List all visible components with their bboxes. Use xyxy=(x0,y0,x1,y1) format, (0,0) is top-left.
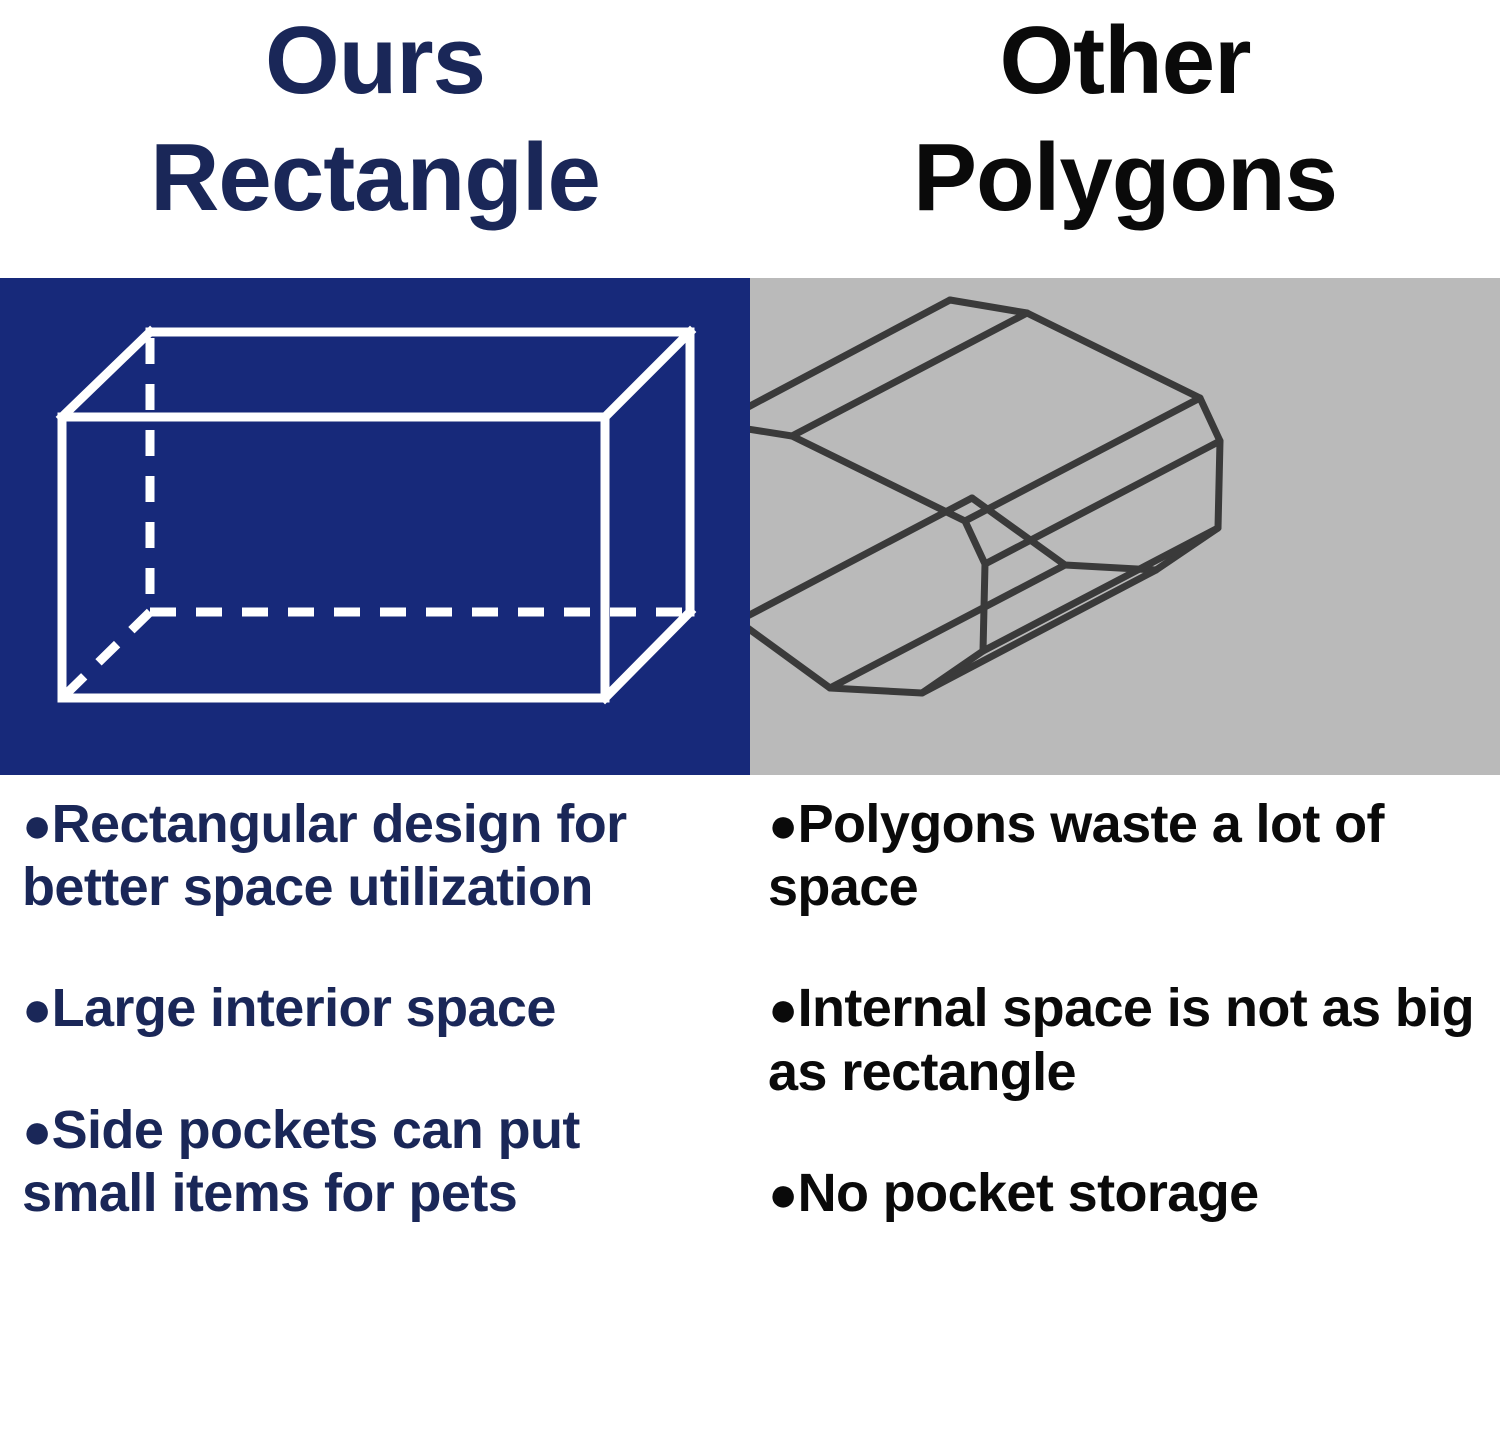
header-other-line2: Polygons xyxy=(913,119,1337,236)
bullet-dot-icon: ● xyxy=(22,981,52,1037)
bullet-dot-icon: ● xyxy=(22,797,52,853)
bullet-item-label: Large interior space xyxy=(52,978,556,1038)
bullet-dot-icon: ● xyxy=(768,797,798,853)
bullet-item-label: Rectangular design for better space util… xyxy=(22,794,627,917)
header-other: Other Polygons xyxy=(750,0,1500,278)
bullet-item: ●Internal space is not as big as rectang… xyxy=(768,977,1480,1103)
bullet-list-other: ●Polygons waste a lot of space ●Internal… xyxy=(750,775,1500,1430)
header-ours-line1: Ours xyxy=(265,2,485,119)
bullet-item-label: Internal space is not as big as rectangl… xyxy=(768,978,1474,1101)
bullet-dot-icon: ● xyxy=(768,981,798,1037)
bullets-row: ●Rectangular design for better space uti… xyxy=(0,775,1500,1430)
panel-other-polygon xyxy=(750,278,1500,775)
bullet-item: ●Large interior space xyxy=(22,977,710,1040)
bullet-item-label: No pocket storage xyxy=(798,1163,1259,1223)
bullet-dot-icon: ● xyxy=(22,1103,52,1159)
bullet-item: ●Polygons waste a lot of space xyxy=(768,793,1480,919)
bullet-item-label: Polygons waste a lot of space xyxy=(768,794,1384,917)
bullet-item: ●Side pockets can put small items for pe… xyxy=(22,1099,710,1225)
bullet-item: ●Rectangular design for better space uti… xyxy=(22,793,710,919)
illustration-row xyxy=(0,278,1500,775)
panel-ours-rectangle xyxy=(0,278,750,775)
bullet-item-label: Side pockets can put small items for pet… xyxy=(22,1100,580,1223)
bullet-item: ●No pocket storage xyxy=(768,1162,1480,1225)
header-row: Ours Rectangle Other Polygons xyxy=(0,0,1500,278)
bullet-dot-icon: ● xyxy=(768,1166,798,1222)
comparison-infographic: Ours Rectangle Other Polygons xyxy=(0,0,1500,1430)
header-other-line1: Other xyxy=(999,2,1250,119)
rectangular-box-icon xyxy=(0,278,750,775)
header-ours: Ours Rectangle xyxy=(0,0,750,278)
header-ours-line2: Rectangle xyxy=(150,119,600,236)
bullet-list-ours: ●Rectangular design for better space uti… xyxy=(0,775,750,1430)
polygon-prism-icon xyxy=(750,278,1500,775)
